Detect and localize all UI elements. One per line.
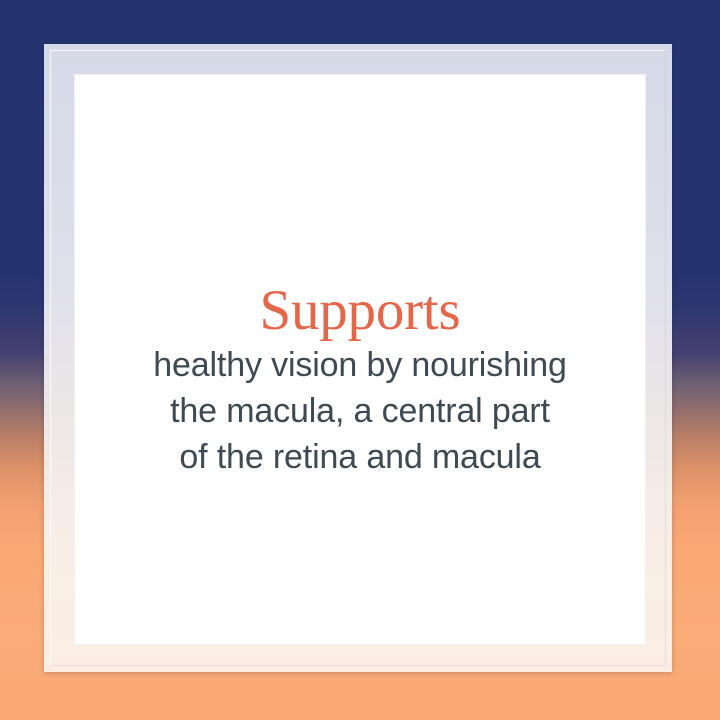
poster-card: Supports healthy vision by nourishing th… — [74, 74, 646, 645]
message-block: Supports healthy vision by nourishing th… — [74, 281, 646, 481]
poster-frame: Supports healthy vision by nourishing th… — [44, 44, 672, 672]
body-text: healthy vision by nourishing the macula,… — [92, 342, 628, 481]
body-line-3: of the retina and macula — [92, 434, 628, 480]
body-line-1: healthy vision by nourishing — [92, 342, 628, 388]
headline-supports: Supports — [92, 281, 628, 340]
body-line-2: the macula, a central part — [92, 388, 628, 434]
poster-backdrop: Supports healthy vision by nourishing th… — [0, 0, 720, 720]
